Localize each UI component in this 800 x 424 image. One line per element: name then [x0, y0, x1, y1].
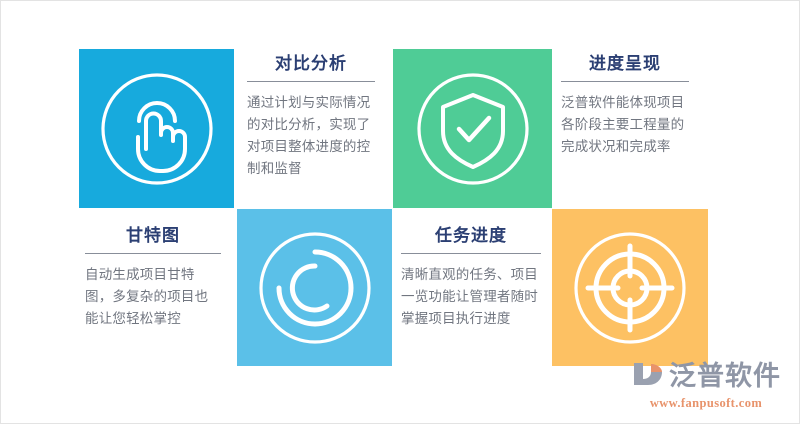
brand-row: 泛普软件 [631, 359, 781, 394]
title-divider [561, 81, 689, 82]
feature-text-gantt: 甘特图 自动生成项目甘特图，多复杂的项目也能让您轻松掌控 [85, 225, 221, 330]
title-divider [401, 253, 541, 254]
brand-name: 泛普软件 [669, 363, 781, 390]
target-crosshair-icon [572, 230, 688, 346]
infographic-canvas: 对比分析 通过计划与实际情况的对比分析，实现了对项目整体进度的控制和监督 进度呈… [0, 0, 800, 424]
feature-tile-task [552, 209, 708, 366]
feature-title: 任务进度 [401, 225, 541, 246]
feature-tile-gantt [237, 209, 392, 366]
title-divider [85, 253, 221, 254]
feature-description: 自动生成项目甘特图，多复杂的项目也能让您轻松掌控 [85, 264, 221, 330]
brand-url: www.fanpusoft.com [650, 396, 762, 411]
brand-logo: 泛普软件 www.fanpusoft.com [631, 359, 781, 411]
feature-description: 泛普软件能体现项目各阶段主要工程量的完成状况和完成率 [561, 92, 689, 158]
feature-tile-progress [393, 49, 552, 208]
title-divider [247, 81, 375, 82]
fanpu-logo-mark-icon [631, 359, 665, 394]
touch-hand-icon [99, 71, 215, 187]
feature-title: 甘特图 [85, 225, 221, 246]
feature-text-progress: 进度呈现 泛普软件能体现项目各阶段主要工程量的完成状况和完成率 [561, 53, 689, 158]
feature-description: 通过计划与实际情况的对比分析，实现了对项目整体进度的控制和监督 [247, 92, 375, 179]
feature-text-task: 任务进度 清晰直观的任务、项目一览功能让管理者随时掌握项目执行进度 [401, 225, 541, 330]
feature-tile-contrast [79, 49, 234, 208]
feature-title: 进度呈现 [561, 53, 689, 74]
feature-description: 清晰直观的任务、项目一览功能让管理者随时掌握项目执行进度 [401, 264, 541, 330]
feature-text-contrast: 对比分析 通过计划与实际情况的对比分析，实现了对项目整体进度的控制和监督 [247, 53, 375, 180]
spiral-circle-icon [257, 230, 373, 346]
feature-title: 对比分析 [247, 53, 375, 74]
shield-check-icon [415, 71, 531, 187]
